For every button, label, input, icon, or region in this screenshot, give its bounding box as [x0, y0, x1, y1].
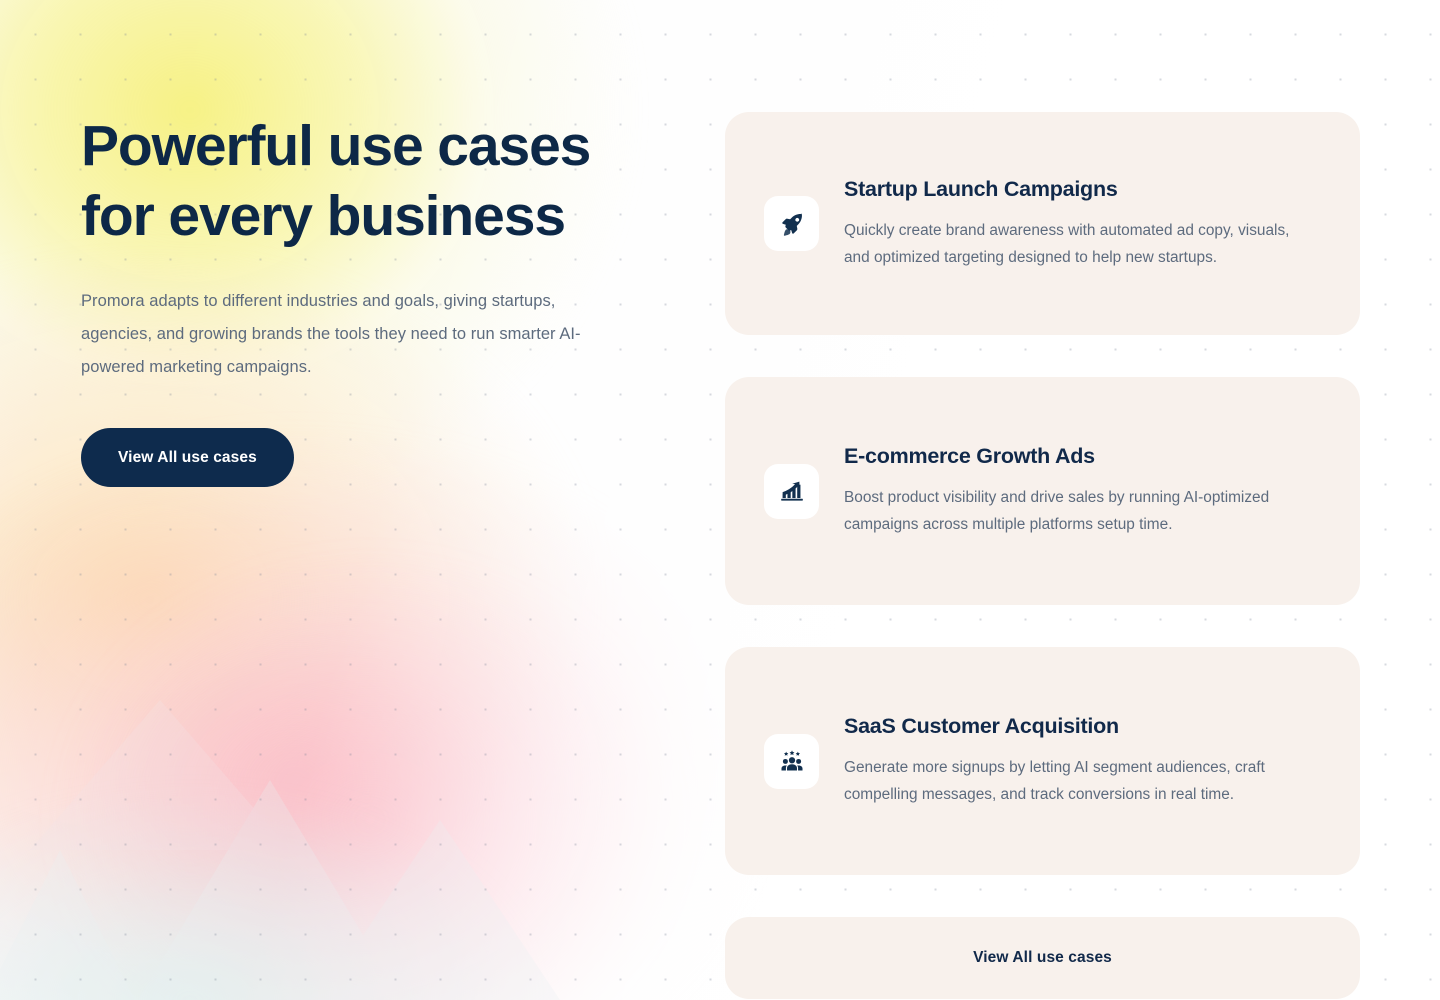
use-case-card[interactable]: SaaS Customer Acquisition Generate more …: [725, 647, 1360, 875]
hero-title-line-2: for every business: [81, 184, 565, 248]
card-description: Generate more signups by letting AI segm…: [844, 754, 1314, 809]
card-body: SaaS Customer Acquisition Generate more …: [844, 713, 1320, 809]
card-description: Boost product visibility and drive sales…: [844, 484, 1314, 539]
icon-tile: [764, 734, 819, 789]
card-body: Startup Launch Campaigns Quickly create …: [844, 176, 1320, 272]
hero-title-line-1: Powerful use cases: [81, 114, 590, 178]
view-all-use-cases-button-label: View All use cases: [118, 449, 257, 467]
card-description: Quickly create brand awareness with auto…: [844, 217, 1314, 272]
bottom-view-all-use-cases-label: View All use cases: [973, 949, 1112, 967]
chart-increasing-icon: [779, 478, 805, 504]
page-title: Powerful use cases for every business: [81, 112, 621, 251]
bottom-view-all-use-cases-button[interactable]: View All use cases: [725, 917, 1360, 999]
icon-tile: [764, 464, 819, 519]
card-title: E-commerce Growth Ads: [844, 443, 1320, 470]
hero-subtitle: Promora adapts to different industries a…: [81, 285, 621, 384]
card-title: Startup Launch Campaigns: [844, 176, 1320, 203]
use-case-card[interactable]: E-commerce Growth Ads Boost product visi…: [725, 377, 1360, 605]
use-cases-section: Powerful use cases for every business Pr…: [0, 0, 1440, 1000]
hero-column: Powerful use cases for every business Pr…: [0, 0, 725, 1000]
rocket-icon: [779, 211, 805, 237]
icon-tile: [764, 196, 819, 251]
people-group-icon: [779, 748, 805, 774]
use-case-cards-column: Startup Launch Campaigns Quickly create …: [725, 0, 1440, 1000]
use-case-card[interactable]: Startup Launch Campaigns Quickly create …: [725, 112, 1360, 335]
card-title: SaaS Customer Acquisition: [844, 713, 1320, 740]
card-body: E-commerce Growth Ads Boost product visi…: [844, 443, 1320, 539]
view-all-use-cases-button[interactable]: View All use cases: [81, 428, 294, 487]
